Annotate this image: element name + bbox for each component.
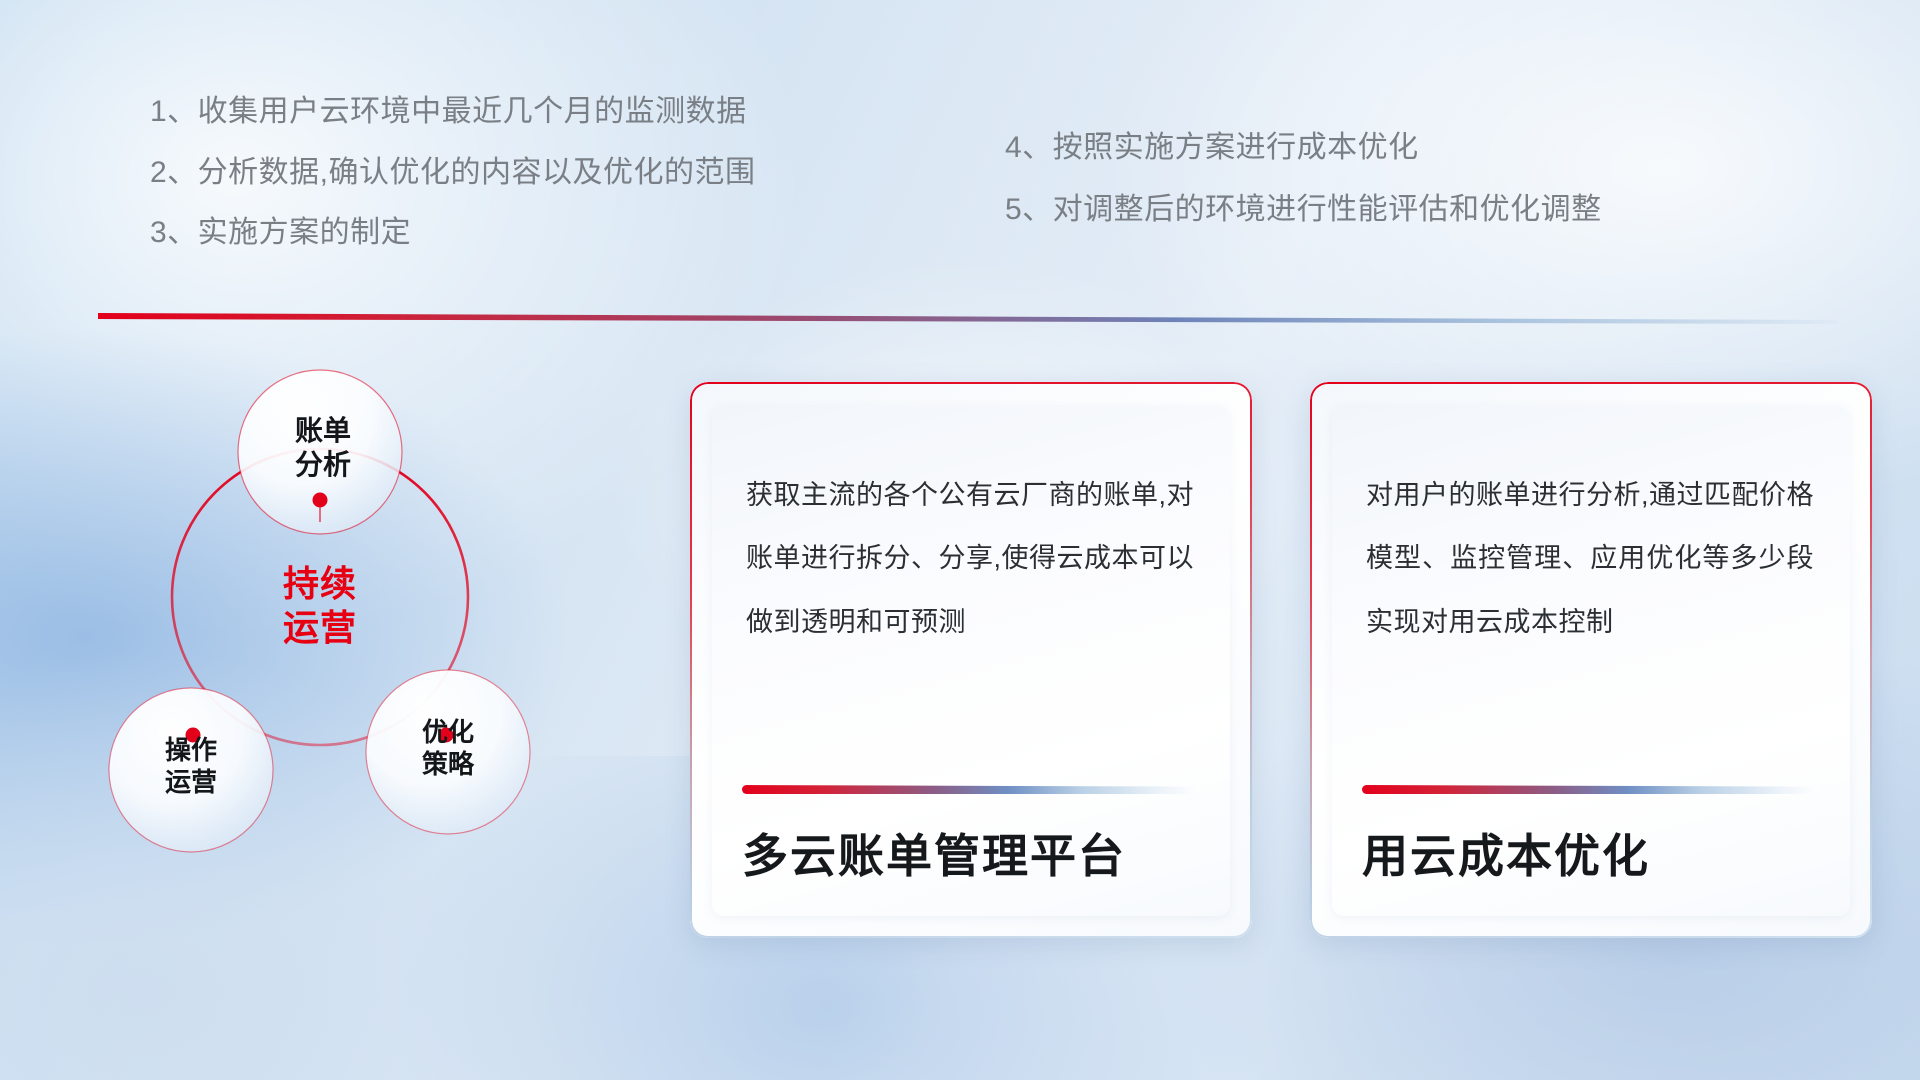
steps-column-right: 4、按照实施方案进行成本优化 5、对调整后的环境进行性能评估和优化调整 [1005,132,1602,255]
step-item: 4、按照实施方案进行成本优化 [1005,132,1602,164]
card-title: 用云成本优化 [1332,794,1850,886]
step-item: 3、实施方案的制定 [150,217,756,249]
feature-card[interactable]: 获取主流的各个公有云厂商的账单,对账单进行拆分、分享,使得云成本可以做到透明和可… [690,382,1252,938]
step-item: 1、收集用户云环境中最近几个月的监测数据 [150,96,756,128]
card-inner-panel: 获取主流的各个公有云厂商的账单,对账单进行拆分、分享,使得云成本可以做到透明和可… [712,406,1230,916]
venn-label-left: 操作 运营 [111,735,271,798]
card-gradient-rule [1362,785,1820,794]
card-inner-panel: 对用户的账单进行分析,通过匹配价格模型、监控管理、应用优化等多少段实现对用云成本… [1332,406,1850,916]
top-divider [98,313,1838,323]
step-item: 5、对调整后的环境进行性能评估和优化调整 [1005,194,1602,226]
step-item: 2、分析数据,确认优化的内容以及优化的范围 [150,157,756,189]
venn-diagram: 账单 分析 持续 运营 操作 运营 优化 策略 [96,352,656,952]
steps-section: 1、收集用户云环境中最近几个月的监测数据 2、分析数据,确认优化的内容以及优化的… [0,96,1920,296]
card-body-text: 对用户的账单进行分析,通过匹配价格模型、监控管理、应用优化等多少段实现对用云成本… [1332,406,1850,654]
feature-card[interactable]: 对用户的账单进行分析,通过匹配价格模型、监控管理、应用优化等多少段实现对用云成本… [1310,382,1872,938]
card-gradient-rule [742,785,1200,794]
card-title: 多云账单管理平台 [712,794,1230,886]
card-body-text: 获取主流的各个公有云厂商的账单,对账单进行拆分、分享,使得云成本可以做到透明和可… [712,406,1230,654]
steps-column-left: 1、收集用户云环境中最近几个月的监测数据 2、分析数据,确认优化的内容以及优化的… [150,96,756,278]
venn-label-center: 持续 运营 [220,562,420,650]
venn-label-top: 账单 分析 [243,414,403,482]
venn-label-right: 优化 策略 [368,717,528,780]
